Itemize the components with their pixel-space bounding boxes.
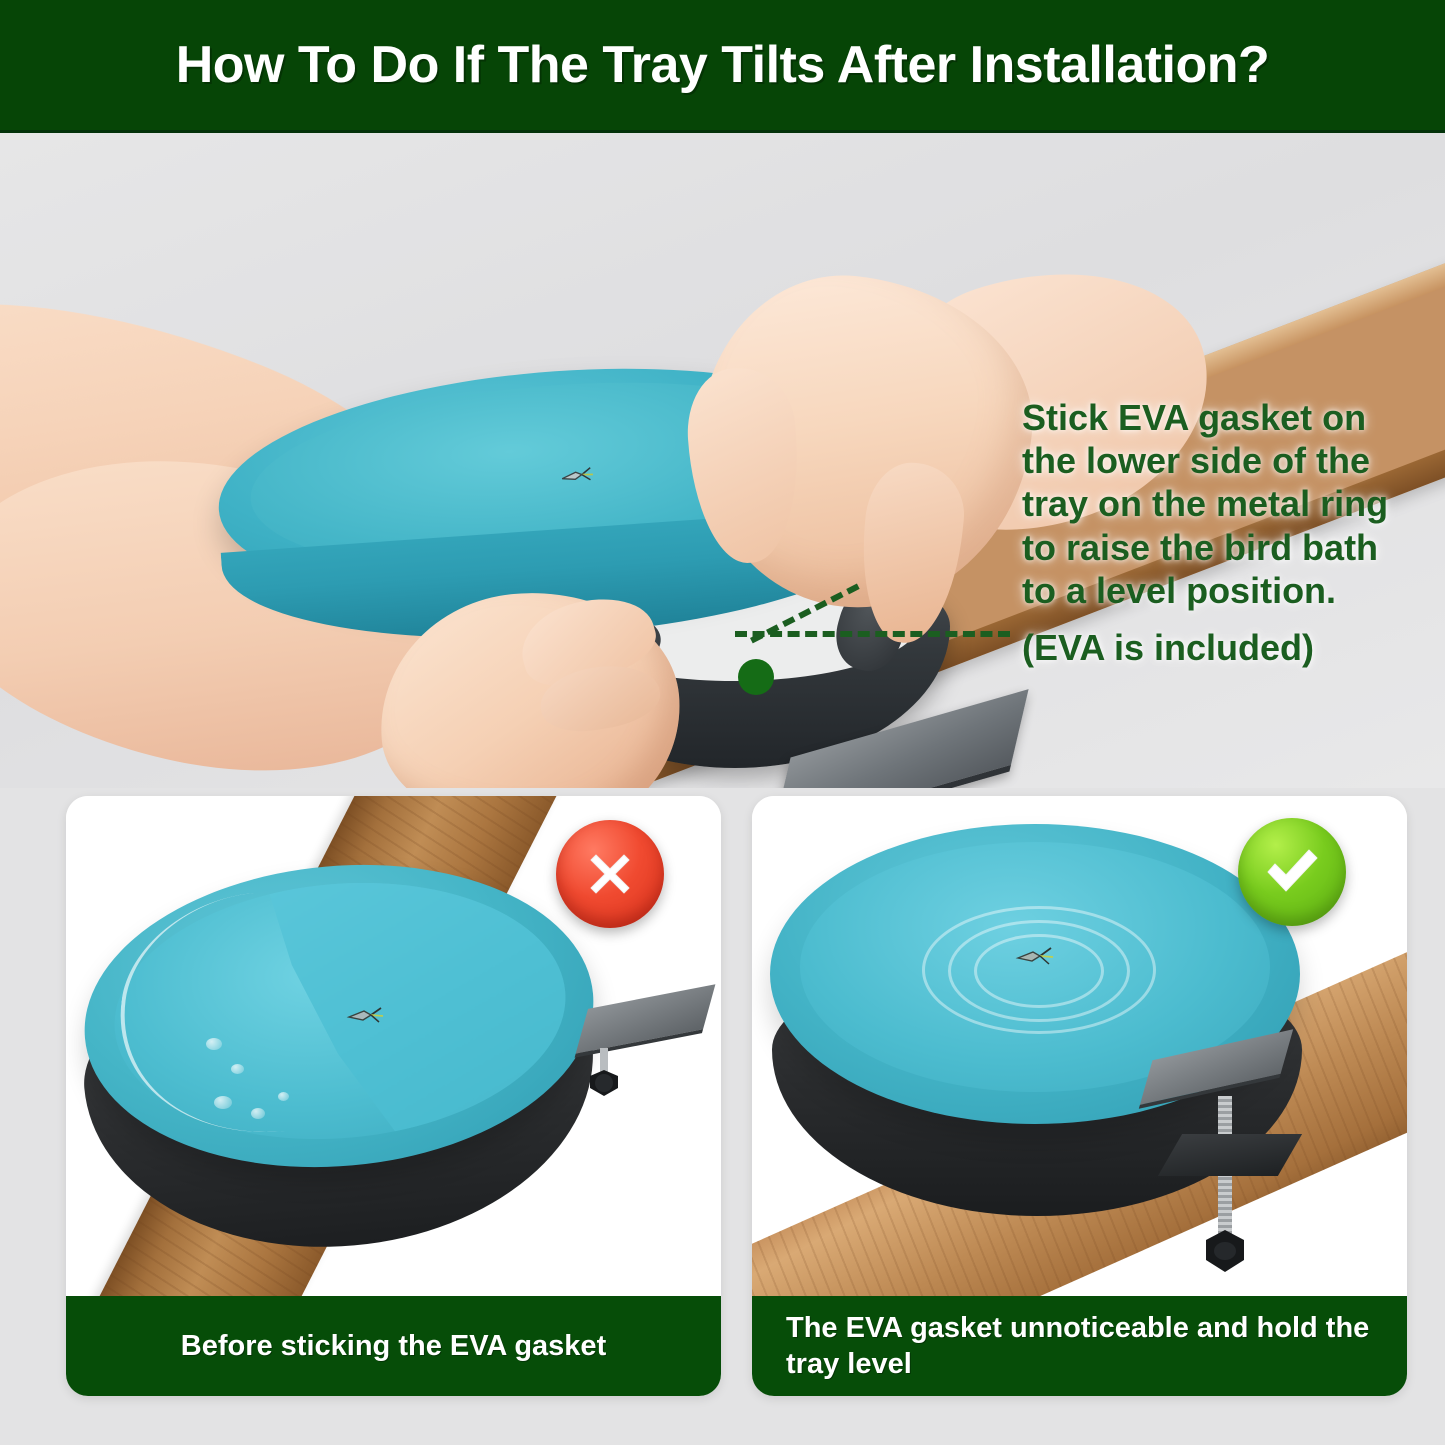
check-icon (1259, 839, 1325, 905)
bird-decal-icon (559, 464, 597, 488)
caption-before: Before sticking the EVA gasket (66, 1296, 721, 1396)
clamp-plate (1158, 1134, 1302, 1176)
bird-decal-icon (1014, 944, 1056, 970)
callout-main-text: Stick EVA gasket on the lower side of th… (1022, 397, 1388, 611)
page-title: How To Do If The Tray Tilts After Instal… (176, 35, 1270, 95)
bird-decal-icon (346, 1004, 386, 1028)
eva-gasket-strip (575, 984, 716, 1057)
water-droplet (231, 1064, 244, 1074)
leader-dot-marker (738, 659, 774, 695)
caption-after: The EVA gasket unnoticeable and hold the… (752, 1296, 1407, 1396)
header-bar: How To Do If The Tray Tilts After Instal… (0, 0, 1445, 133)
x-badge (556, 820, 664, 928)
check-badge (1238, 818, 1346, 926)
leader-line-horizontal (735, 631, 1010, 639)
hero-callout: Stick EVA gasket on the lower side of th… (1022, 396, 1422, 669)
water-droplet (206, 1038, 222, 1050)
water-droplet (278, 1092, 289, 1101)
clamp-knob (1192, 1226, 1258, 1278)
infographic-root: How To Do If The Tray Tilts After Instal… (0, 0, 1445, 1445)
water-droplet (214, 1096, 232, 1109)
close-icon (579, 843, 641, 905)
water-droplet (251, 1108, 265, 1119)
clamp-knob (574, 1048, 634, 1108)
callout-sub-text: (EVA is included) (1022, 626, 1422, 669)
